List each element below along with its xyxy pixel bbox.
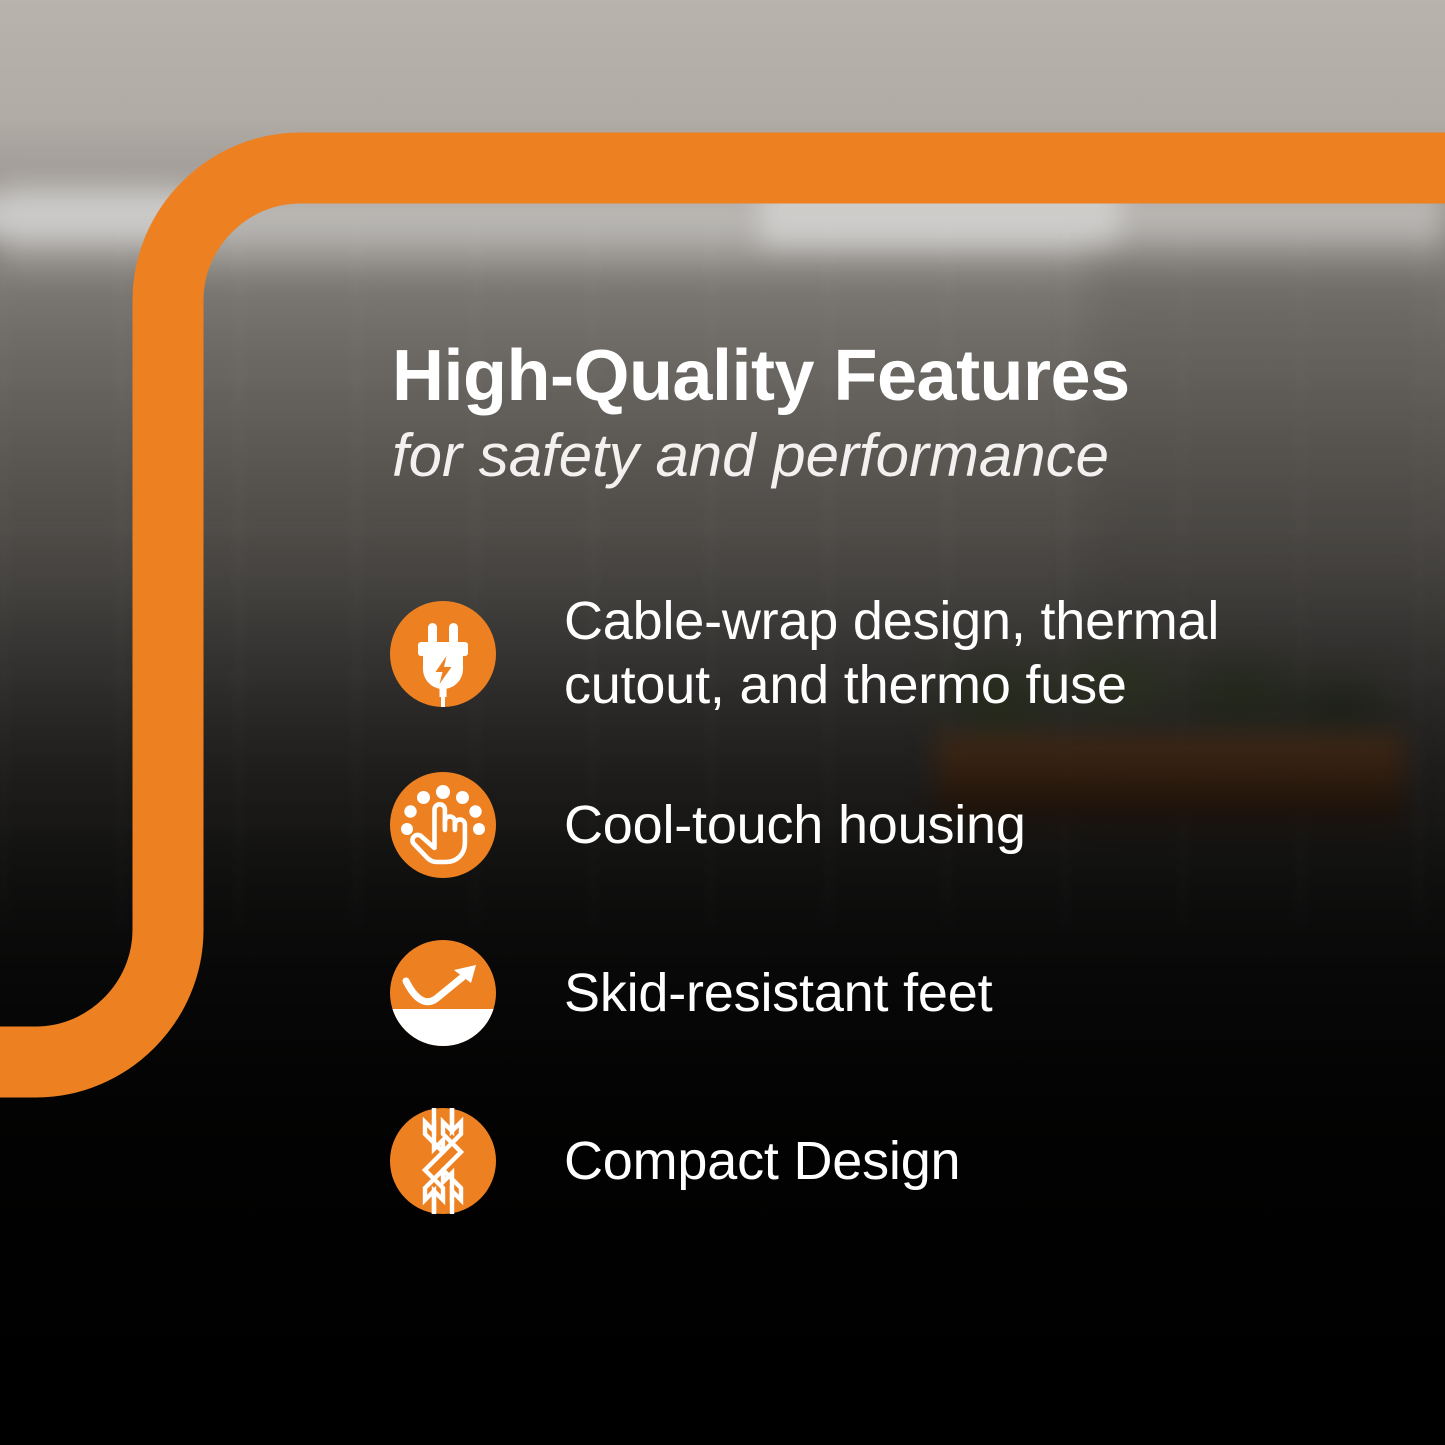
feature-item: Compact Design <box>390 1101 1390 1221</box>
compact-arrows-icon <box>390 1108 496 1214</box>
page-title: High-Quality Features <box>392 340 1372 412</box>
page-subtitle: for safety and performance <box>392 426 1372 486</box>
feature-item: Cool-touch housing <box>390 765 1390 885</box>
content-area: High-Quality Features for safety and per… <box>0 0 1445 1445</box>
skid-resistant-arrow-icon <box>390 940 496 1046</box>
feature-label: Cool-touch housing <box>564 794 1026 858</box>
feature-label: Skid-resistant feet <box>564 962 992 1026</box>
heading-block: High-Quality Features for safety and per… <box>392 340 1372 486</box>
feature-item: Skid-resistant feet <box>390 933 1390 1053</box>
feature-label: Cable-wrap design, thermal cutout, and t… <box>564 590 1324 717</box>
power-plug-icon <box>390 601 496 707</box>
cool-touch-hand-icon <box>390 772 496 878</box>
feature-item: Cable-wrap design, thermal cutout, and t… <box>390 590 1390 717</box>
feature-callout-card: High-Quality Features for safety and per… <box>0 0 1445 1445</box>
feature-label: Compact Design <box>564 1130 960 1194</box>
feature-list: Cable-wrap design, thermal cutout, and t… <box>390 590 1390 1221</box>
